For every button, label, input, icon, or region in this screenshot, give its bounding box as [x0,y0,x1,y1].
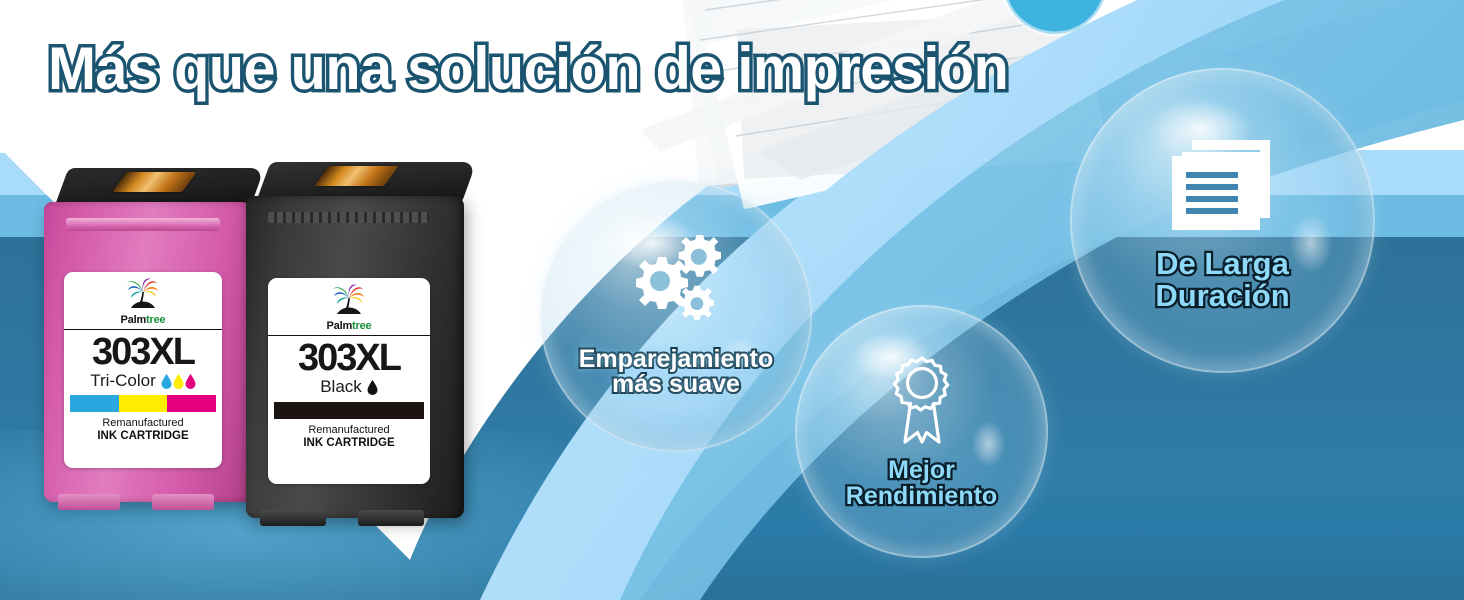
ink-drops [367,380,378,395]
cartridge-foot-left [58,494,120,510]
cartridge-variant-row: Tri-Color [64,372,222,391]
ink-drop-black-icon [367,380,378,395]
gears-icon [616,235,736,331]
feature-bubble-smoother-matching: Emparejamiento más suave [540,180,812,452]
cartridge-black: Palmtree 303XL Black Remanufactured INK … [246,196,464,518]
cartridge-foot-right [152,494,214,510]
brand-logo: Palmtree [268,278,430,336]
ink-drop-cyan-icon [161,374,172,389]
cartridge-tri-color: Palmtree 303XL Tri-Color [44,202,252,502]
brand-name-first: Palm [121,314,147,326]
brand-name-first: Palm [327,320,353,332]
ink-color-bar [274,402,424,419]
feature-label: Emparejamiento más suave [579,347,774,398]
cartridge-contact-chip [112,172,197,192]
cartridge-variant-label: Tri-Color [90,372,155,391]
brand-name: Palmtree [121,315,166,326]
award-ribbon-icon [883,354,961,448]
bubble-content: Mejor Rendimiento [795,305,1048,558]
brand-name-second: tree [146,314,165,326]
cartridge-remanufactured-text: Remanufactured [66,417,220,430]
ink-drops [161,374,196,389]
brand-name-second: tree [352,320,371,332]
cartridge-model: 303XL [64,333,222,371]
ink-drop-yellow-icon [173,374,184,389]
page-title: Más que una solución de impresión [48,34,1008,103]
promo-banner: Más que una solución de impresión [0,0,1464,600]
cartridge-body: Palmtree 303XL Tri-Color [44,202,252,502]
cartridge-label-footer: Remanufactured INK CARTRIDGE [64,412,222,448]
color-bar-cyan [70,395,119,412]
stacked-pages-icon [1164,130,1282,234]
cartridge-grip [66,218,220,231]
cartridge-foot-left [260,510,326,526]
cartridge-label-footer: Remanufactured INK CARTRIDGE [268,419,430,455]
brand-name: Palmtree [327,321,372,332]
feature-label: De Larga Duración [1155,248,1289,311]
cartridge-label: Palmtree 303XL Black Remanufactured INK … [268,278,430,484]
cartridge-foot-right [358,510,424,526]
cartridge-variant-label: Black [320,378,362,397]
palmtree-icon [327,284,371,320]
color-bar-yellow [119,395,168,412]
bubble-content: Emparejamiento más suave [540,180,812,452]
palmtree-icon [121,278,165,314]
cartridge-remanufactured-text: Remanufactured [270,424,428,437]
brand-logo: Palmtree [64,272,222,330]
cartridge-grip [268,212,429,223]
feature-bubble-long-lasting: De Larga Duración [1070,68,1375,373]
cartridge-ink-cartridge-text: INK CARTRIDGE [270,437,428,451]
color-bar-magenta [167,395,216,412]
cartridge-label: Palmtree 303XL Tri-Color [64,272,222,468]
cartridge-model: 303XL [268,339,430,377]
cartridge-contact-chip [314,166,399,186]
cartridge-ink-cartridge-text: INK CARTRIDGE [66,430,220,444]
feature-label: Mejor Rendimiento [846,458,997,509]
ink-drop-magenta-icon [185,374,196,389]
ink-color-bar [70,395,216,412]
cartridge-body: Palmtree 303XL Black Remanufactured INK … [246,196,464,518]
feature-bubble-better-performance: Mejor Rendimiento [795,305,1048,558]
cartridge-variant-row: Black [268,378,430,397]
bubble-content: De Larga Duración [1070,68,1375,373]
